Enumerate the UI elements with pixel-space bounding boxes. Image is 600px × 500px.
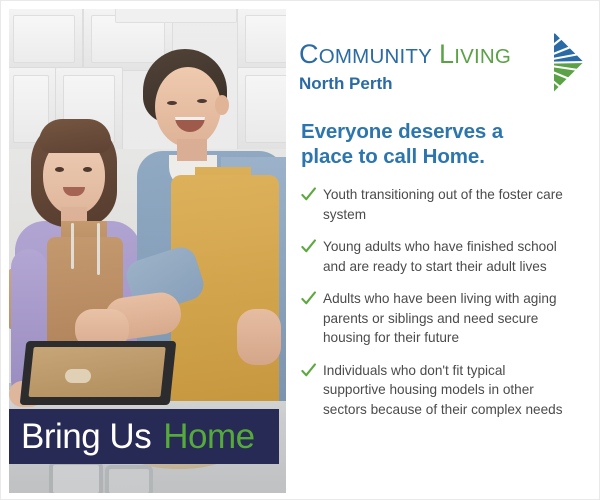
list-item-label: Adults who have been living with aging p… <box>323 291 557 345</box>
poster-card: Bring Us Home COMMUNITYLIVING North Pert… <box>0 0 600 500</box>
logo-word-community: COMMUNITY <box>299 39 432 69</box>
list-item: Youth transitioning out of the foster ca… <box>301 185 563 224</box>
list-item-label: Individuals who don't fit typical suppor… <box>323 363 563 417</box>
beneficiary-list: Youth transitioning out of the foster ca… <box>301 185 563 419</box>
list-item: Individuals who don't fit typical suppor… <box>301 361 563 420</box>
list-item: Young adults who have finished school an… <box>301 237 563 276</box>
banner-text-white: Bring Us <box>9 419 151 454</box>
list-item: Adults who have been living with aging p… <box>301 289 563 348</box>
bring-us-home-banner: Bring Us Home <box>9 409 279 464</box>
check-icon <box>301 291 316 306</box>
page-title: Everyone deserves a place to call Home. <box>301 119 557 169</box>
check-icon <box>301 363 316 378</box>
list-item-label: Young adults who have finished school an… <box>323 239 557 274</box>
list-item-label: Youth transitioning out of the foster ca… <box>323 187 563 222</box>
diamond-rays-logo-icon <box>521 29 587 97</box>
check-icon <box>301 239 316 254</box>
check-icon <box>301 187 316 202</box>
banner-text-green: Home <box>151 419 254 454</box>
organization-logo: COMMUNITYLIVING North Perth <box>299 27 591 105</box>
content-panel: COMMUNITYLIVING North Perth <box>291 9 591 493</box>
headline-line-1: Everyone deserves a <box>301 120 503 143</box>
headline-line-2: place to call Home. <box>301 145 485 168</box>
logo-tagline: North Perth <box>299 73 511 95</box>
logo-word-living: LIVING <box>432 39 511 69</box>
